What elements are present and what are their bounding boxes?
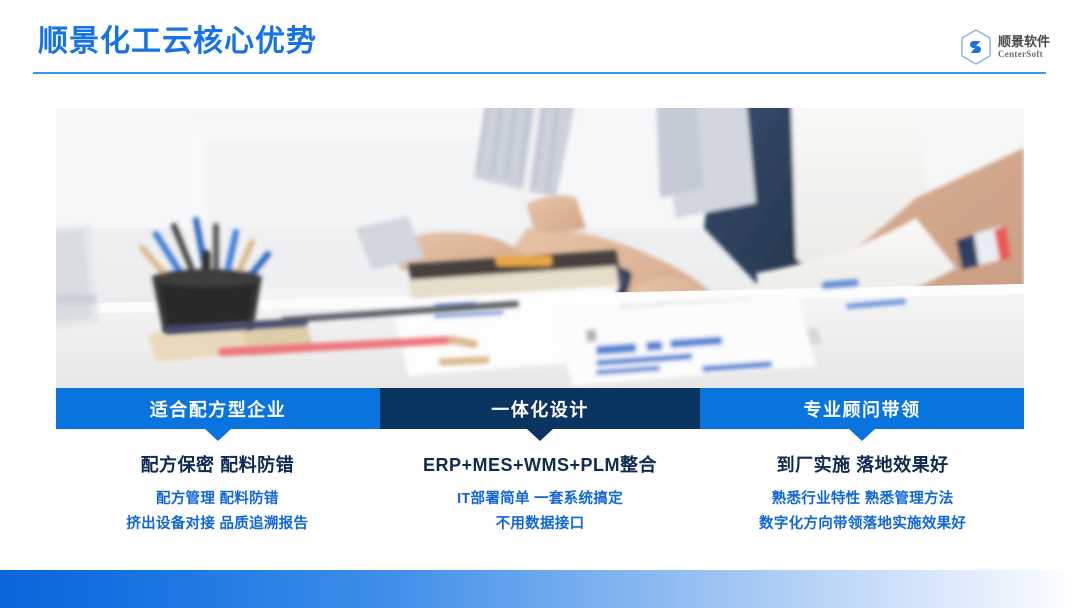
column-1-headline: 配方保密 配料防错 (56, 452, 379, 478)
advantage-column-2: ERP+MES+WMS+PLM整合 IT部署简单 一套系统搞定 不用数据接口 (379, 452, 702, 537)
brand-logo: 顺景软件 CenterSoft (960, 29, 1050, 65)
logo-chinese-name: 顺景软件 (998, 35, 1050, 48)
page-title: 顺景化工云核心优势 (38, 22, 317, 62)
banner-item-1[interactable]: 适合配方型企业 (56, 388, 380, 429)
banner-item-1-label: 适合配方型企业 (150, 396, 287, 422)
banner-item-3-label: 专业顾问带领 (804, 396, 921, 422)
column-3-line-1: 熟悉行业特性 熟悉管理方法 (701, 487, 1024, 512)
banner-notch-2-icon (527, 429, 553, 441)
column-2-line-2: 不用数据接口 (379, 512, 702, 537)
column-1-line-2: 挤出设备对接 品质追溯报告 (56, 512, 379, 537)
hero-photo-illustration (56, 108, 1024, 388)
hero-photo (56, 108, 1024, 388)
column-3-line-2: 数字化方向带领落地实施效果好 (701, 512, 1024, 537)
advantage-columns: 配方保密 配料防错 配方管理 配料防错 挤出设备对接 品质追溯报告 ERP+ME… (56, 452, 1024, 537)
banner-item-2[interactable]: 一体化设计 (380, 388, 700, 429)
banner-item-3[interactable]: 专业顾问带领 (700, 388, 1024, 429)
banner-notch-3-icon (849, 429, 875, 441)
logo-english-name: CenterSoft (998, 50, 1050, 59)
column-2-headline: ERP+MES+WMS+PLM整合 (379, 452, 702, 478)
column-3-headline: 到厂实施 落地效果好 (701, 452, 1024, 478)
advantage-banner: 适合配方型企业 一体化设计 专业顾问带领 (56, 388, 1024, 429)
column-1-line-1: 配方管理 配料防错 (56, 487, 379, 512)
bottom-accent-bar (0, 570, 1080, 608)
advantage-column-1: 配方保密 配料防错 配方管理 配料防错 挤出设备对接 品质追溯报告 (56, 452, 379, 537)
banner-notch-1-icon (205, 429, 231, 441)
banner-item-2-label: 一体化设计 (491, 396, 589, 422)
slide-header: 顺景化工云核心优势 顺景软件 CenterSoft (0, 0, 1080, 86)
advantage-column-3: 到厂实施 落地效果好 熟悉行业特性 熟悉管理方法 数字化方向带领落地实施效果好 (701, 452, 1024, 537)
title-divider-rule (33, 72, 1046, 74)
column-2-line-1: IT部署简单 一套系统搞定 (379, 487, 702, 512)
logo-wordmark: 顺景软件 CenterSoft (998, 35, 1050, 59)
centersoft-hexagon-icon (960, 29, 992, 65)
